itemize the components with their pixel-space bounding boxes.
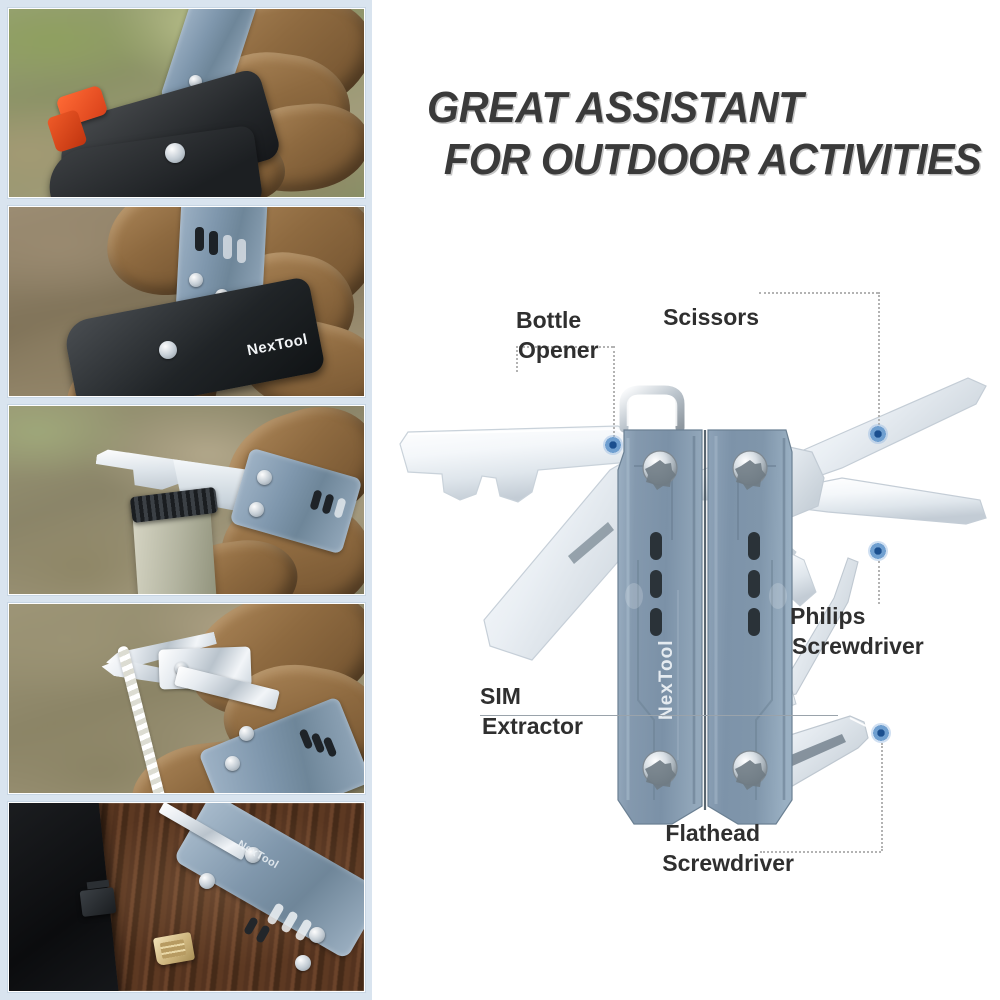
handle-left: NexTool: [618, 430, 702, 824]
callout-sim-line1: SIM: [480, 681, 583, 711]
tool-scissors-shape: [700, 378, 986, 606]
callout-philips-screwdriver[interactable]: Philips Screwdriver: [790, 601, 924, 661]
leader-flathead-vertical: [881, 743, 883, 851]
photo-rail: NexTool: [0, 0, 372, 1000]
callout-sim-extractor[interactable]: SIM Extractor: [480, 681, 583, 741]
callout-flathead-line1: Flathead: [632, 818, 760, 848]
leader-scissors-horizontal: [759, 292, 878, 294]
callout-bottle-opener-line1: Bottle: [516, 305, 599, 335]
photo-cell-bottle-opener[interactable]: [8, 405, 365, 595]
photo-cell-pruning-shear[interactable]: [8, 8, 365, 198]
callout-dot-flathead-screwdriver: [871, 723, 891, 743]
callout-dot-scissors: [868, 424, 888, 444]
tool-knife-blade-shape: [484, 456, 672, 660]
photo-cell-scissors-rope[interactable]: [8, 603, 365, 793]
callout-philips-line1: Philips: [790, 601, 924, 631]
callout-scissors-line1: Scissors: [642, 302, 759, 332]
key-ring-loop: [624, 390, 680, 428]
leader-scissors-vertical: [878, 292, 880, 436]
tool-flathead-screwdriver-shape: [728, 716, 868, 792]
headline-line-1: GREAT ASSISTANT: [427, 82, 953, 134]
diagram-panel: GREAT ASSISTANT FOR OUTDOOR ACTIVITIES: [372, 0, 1000, 1000]
headline: GREAT ASSISTANT FOR OUTDOOR ACTIVITIES: [427, 82, 987, 186]
callout-philips-line2: Screwdriver: [790, 631, 924, 661]
headline-line-2: FOR OUTDOOR ACTIVITIES: [427, 134, 953, 186]
photo-cell-sim-extractor[interactable]: NexTool: [8, 802, 365, 992]
callout-bottle-opener-line2: Opener: [516, 335, 599, 365]
product-infographic: NexTool: [0, 0, 1000, 1000]
handle-brand-text: NexTool: [656, 639, 677, 720]
callout-dot-philips-screwdriver: [868, 541, 888, 561]
callout-sim-line2: Extractor: [480, 711, 583, 741]
handle-right: [708, 430, 792, 824]
leader-bottle-opener-drop: [613, 346, 615, 445]
leader-philips-vertical: [878, 561, 880, 604]
callout-dot-bottle-opener: [603, 435, 623, 455]
callout-flathead-screwdriver[interactable]: Flathead Screwdriver: [632, 818, 760, 878]
callout-flathead-line2: Screwdriver: [632, 848, 794, 878]
callout-scissors[interactable]: Scissors: [642, 302, 759, 332]
callout-bottle-opener[interactable]: Bottle Opener: [516, 305, 599, 365]
photo-cell-screwdriver-black-tool[interactable]: NexTool: [8, 206, 365, 396]
tool-bottle-opener-shape: [400, 426, 640, 502]
